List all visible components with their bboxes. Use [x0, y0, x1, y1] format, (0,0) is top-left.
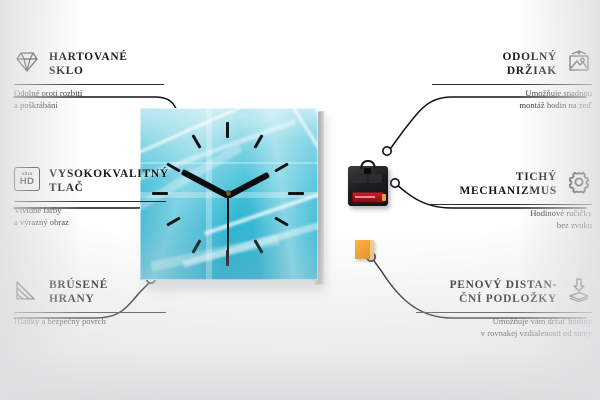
- feature-header: HARTOVANÉ SKLO: [14, 50, 164, 78]
- feature-description: Umožňuje vám držať hodiny v rovnakej vzd…: [416, 316, 592, 339]
- feature-description: Hodinové ručičky bez zvuku: [430, 208, 592, 231]
- feature-divider: [430, 204, 592, 205]
- feature-header: TICHÝ MECHANIZMUS: [430, 170, 592, 198]
- foam-edge: [370, 240, 374, 259]
- feature-divider: [416, 312, 592, 313]
- gear-icon: [566, 170, 592, 194]
- feature-hardened-glass: HARTOVANÉ SKLO Odolné proti rozbití a po…: [14, 50, 164, 111]
- foam-spacer-pad: [355, 240, 374, 259]
- feature-description: Vividné farby a výrazný obraz: [14, 205, 166, 228]
- feature-divider: [14, 312, 166, 313]
- hanging-frame-icon: [566, 50, 592, 74]
- clock-tick: [226, 122, 229, 138]
- clock-mechanism: [348, 166, 388, 206]
- mechanism-slot: [353, 174, 366, 183]
- feature-durable-holder: ODOLNÝ DRŽIAK Umožňuje snadnou montáž ho…: [432, 50, 592, 111]
- diamond-icon: [14, 50, 40, 74]
- feature-header: BRÚSENÉ HRANY: [14, 278, 166, 306]
- feature-high-quality-print: ultra HD VYSOKOKVALITNÝ TLAČ Vividné far…: [14, 167, 166, 228]
- feature-title: ODOLNÝ DRŽIAK: [503, 50, 558, 78]
- promo-infographic: HARTOVANÉ SKLO Odolné proti rozbití a po…: [0, 0, 600, 400]
- battery: [352, 192, 384, 203]
- feature-foam-spacers: PENOVÝ DISTAN- ČNÍ PODLOŽKY Umožňuje vám…: [416, 278, 592, 339]
- feature-divider: [14, 201, 166, 202]
- clock-tick: [288, 192, 304, 195]
- feature-header: ultra HD VYSOKOKVALITNÝ TLAČ: [14, 167, 166, 195]
- feature-description: Hladký a bezpečný povrch: [14, 316, 166, 327]
- feature-title: VYSOKOKVALITNÝ TLAČ: [49, 167, 169, 195]
- ground-edges-icon: [14, 278, 40, 302]
- product-photo: [140, 108, 320, 283]
- battery-label: [355, 196, 375, 198]
- clock-second-hand: [227, 196, 229, 258]
- feature-title: TICHÝ MECHANIZMUS: [460, 170, 557, 198]
- stacked-layers-arrow-icon: [566, 278, 592, 302]
- clock-center-pin: [226, 191, 231, 196]
- feature-ground-edges: BRÚSENÉ HRANY Hladký a bezpečný povrch: [14, 278, 166, 328]
- feature-divider: [14, 84, 164, 85]
- feature-title: PENOVÝ DISTAN- ČNÍ PODLOŽKY: [450, 278, 557, 306]
- feature-description: Odolné proti rozbití a poškrábání: [14, 88, 164, 111]
- battery-plus-terminal: [382, 194, 386, 201]
- node-durable-holder: [383, 147, 391, 155]
- feature-description: Umožňuje snadnou montáž hodin na zeď: [432, 88, 592, 111]
- feature-header: ODOLNÝ DRŽIAK: [432, 50, 592, 78]
- node-silent-mechanism: [391, 179, 399, 187]
- feature-silent-mechanism: TICHÝ MECHANIZMUS Hodinové ručičky bez z…: [430, 170, 592, 231]
- ultra-hd-icon-main-label: HD: [20, 177, 34, 187]
- ultra-hd-icon: ultra HD: [14, 167, 40, 191]
- mechanism-slot: [369, 174, 382, 183]
- feature-title: BRÚSENÉ HRANY: [49, 278, 108, 306]
- feature-title: HARTOVANÉ SKLO: [49, 50, 128, 78]
- feature-header: PENOVÝ DISTAN- ČNÍ PODLOŽKY: [416, 278, 592, 306]
- feature-divider: [432, 84, 592, 85]
